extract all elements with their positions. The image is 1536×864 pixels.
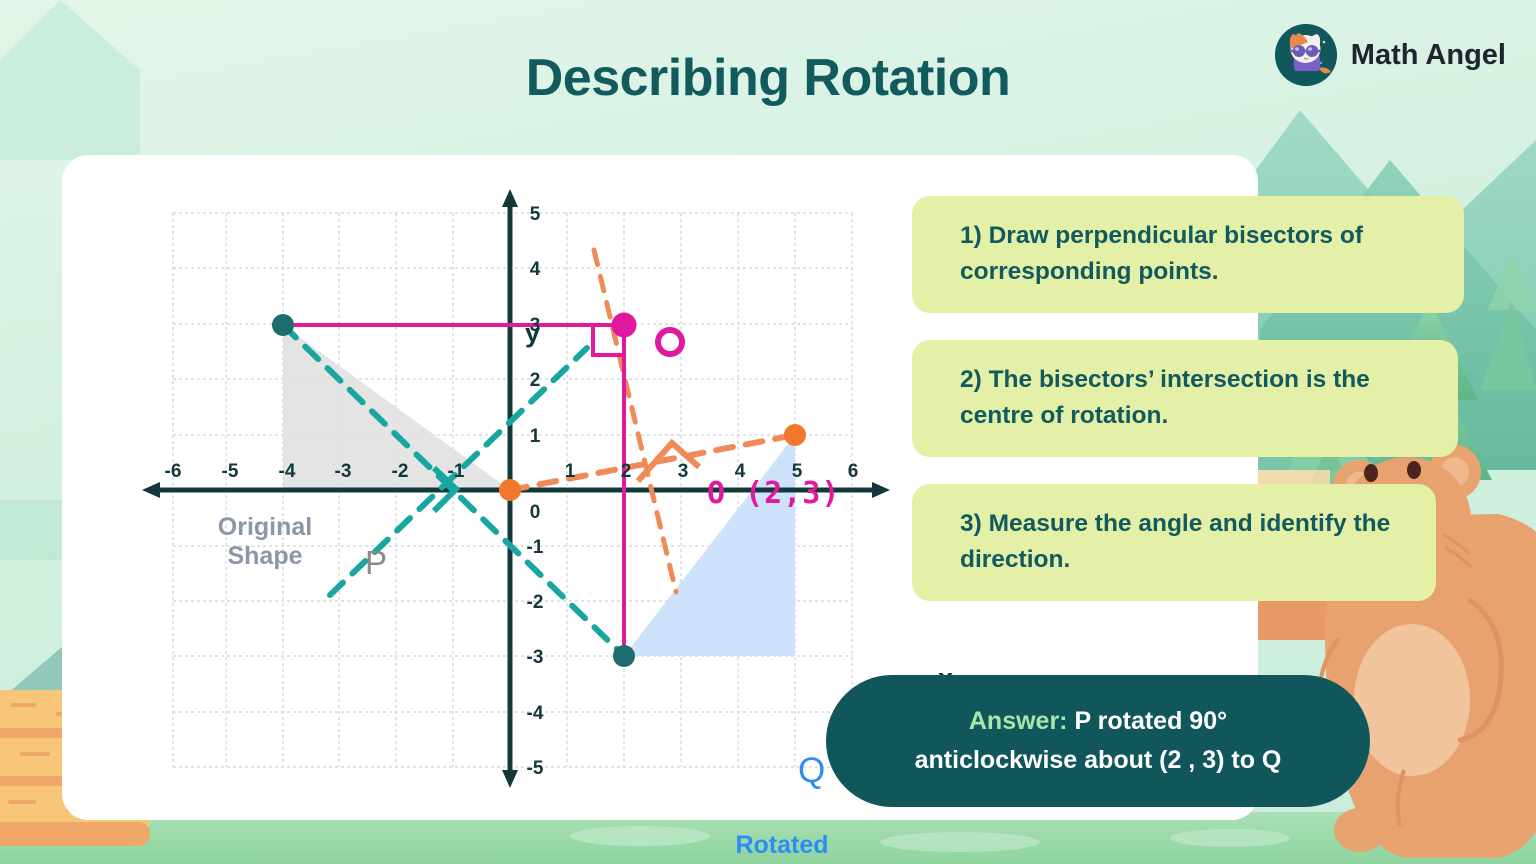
svg-text:-5: -5 xyxy=(222,461,239,482)
grass-tuft xyxy=(1170,829,1290,847)
svg-text:-3: -3 xyxy=(335,461,352,482)
svg-text:1: 1 xyxy=(565,461,576,482)
rotated-shape-label: Rotated Shape xyxy=(712,831,852,864)
answer-badge: Answer: P rotated 90° anticlockwise abou… xyxy=(826,675,1370,807)
answer-key-label: Answer: xyxy=(969,707,1068,735)
svg-text:-1: -1 xyxy=(448,461,465,482)
y-axis-arrow-down xyxy=(502,770,518,788)
svg-text:-2: -2 xyxy=(527,592,544,613)
point-centre-of-rotation xyxy=(612,313,637,338)
svg-text:-4: -4 xyxy=(279,461,296,482)
x-axis-arrow xyxy=(872,482,890,498)
answer-line-1: Answer: P rotated 90° xyxy=(969,702,1227,741)
point-origin xyxy=(499,479,521,501)
point-q-vertex2 xyxy=(784,424,806,446)
coordinate-graph: -6 -5 -4 -3 -2 -1 1 2 3 4 5 6 5 4 3 2 1 … xyxy=(62,155,962,820)
svg-text:-2: -2 xyxy=(392,461,409,482)
brand-logo-group: Math Angel xyxy=(1275,24,1506,86)
answer-line-1-rest: P rotated 90° xyxy=(1068,707,1228,735)
rotated-shape-line1: Rotated xyxy=(735,831,828,859)
centre-o-marker xyxy=(658,330,682,354)
answer-line-2: anticlockwise about (2 , 3) to Q xyxy=(915,741,1282,780)
grass-tuft xyxy=(570,826,710,846)
svg-text:-1: -1 xyxy=(527,537,544,558)
step-item-2: 2) The bisectors’ intersection is the ce… xyxy=(912,340,1458,457)
shape-q-label: Q xyxy=(798,751,825,792)
svg-text:0: 0 xyxy=(530,502,541,523)
svg-text:2: 2 xyxy=(621,461,632,482)
centre-of-rotation-label: O (2,3) xyxy=(707,477,840,512)
steps-list: 1) Draw perpendicular bisectors of corre… xyxy=(912,196,1464,628)
point-p-vertex xyxy=(272,314,294,336)
brand-name: Math Angel xyxy=(1351,39,1506,72)
svg-text:-5: -5 xyxy=(527,758,544,779)
original-shape-line2: Shape xyxy=(227,542,302,570)
grass-tuft xyxy=(880,832,1040,852)
shape-p-label: P xyxy=(365,544,387,582)
y-axis-arrow xyxy=(502,189,518,207)
rotated-shape-line2: Shape xyxy=(744,860,819,864)
svg-text:5: 5 xyxy=(530,204,541,225)
svg-text:6: 6 xyxy=(848,461,859,482)
original-shape-line1: Original xyxy=(218,513,312,541)
point-q-vertex xyxy=(613,645,635,667)
orange-perpendicular-bisector xyxy=(594,250,676,592)
y-axis-label: y xyxy=(525,318,540,349)
original-shape-label: Original Shape xyxy=(190,513,340,571)
step-item-3: 3) Measure the angle and identify the di… xyxy=(912,484,1436,601)
svg-text:-4: -4 xyxy=(527,703,544,724)
svg-text:2: 2 xyxy=(530,370,541,391)
cat-mascot-icon xyxy=(1275,24,1337,86)
svg-text:-6: -6 xyxy=(165,461,182,482)
svg-text:4: 4 xyxy=(530,259,541,280)
x-axis-arrow-left xyxy=(142,482,160,498)
step-item-1: 1) Draw perpendicular bisectors of corre… xyxy=(912,196,1464,313)
svg-text:3: 3 xyxy=(678,461,689,482)
svg-text:-3: -3 xyxy=(527,647,544,668)
poster-root: Describing Rotation xyxy=(0,0,1536,864)
svg-text:1: 1 xyxy=(530,426,541,447)
